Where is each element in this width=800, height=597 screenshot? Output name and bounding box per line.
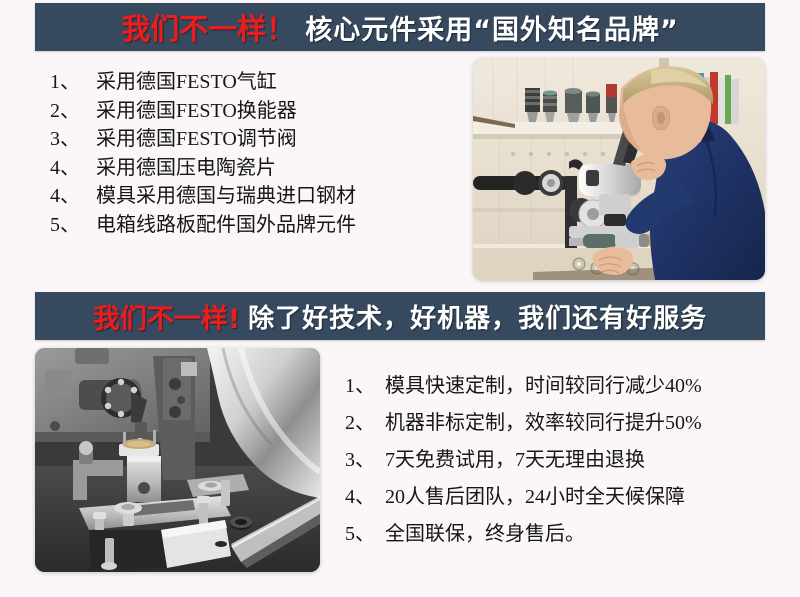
list-item: 2、 采用德国FESTO换能器 [50,97,356,126]
list-item-number: 3、 [50,125,96,154]
list-item: 4、 模具采用德国与瑞典进口钢材 [50,182,356,211]
components-banner: 我们不一样！ 核心元件采用“国外知名品牌” [35,3,765,51]
list-item-text: 采用德国FESTO气缸 [96,68,277,97]
list-item-text: 20人售后团队，24小时全天候保障 [385,479,685,516]
list-item-number: 3、 [345,442,385,479]
list-item-number: 4、 [50,182,96,211]
services-banner: 我们不一样! 除了好技术，好机器，我们还有好服务 [35,292,765,340]
list-item-number: 1、 [50,68,96,97]
list-item-text: 采用德国FESTO换能器 [96,97,297,126]
list-item-text: 采用德国FESTO调节阀 [96,125,297,154]
marketing-page: 我们不一样！ 核心元件采用“国外知名品牌” 1、 采用德国FESTO气缸 2、 … [0,0,800,597]
list-item: 1、 模具快速定制，时间较同行减少40% [345,368,702,405]
list-item-number: 5、 [50,211,96,240]
technician-microscope-illustration [473,58,765,280]
list-item-number: 1、 [345,368,385,405]
services-list: 1、 模具快速定制，时间较同行减少40% 2、 机器非标定制，效率较同行提升50… [345,368,702,553]
list-item-number: 4、 [50,154,96,183]
list-item: 2、 机器非标定制，效率较同行提升50% [345,405,702,442]
list-item-number: 4、 [345,479,385,516]
list-item-number: 2、 [50,97,96,126]
components-banner-title: 核心元件采用“国外知名品牌” [305,8,679,47]
list-item: 1、 采用德国FESTO气缸 [50,68,356,97]
machine-tooling-illustration [35,348,320,572]
list-item-text: 模具快速定制，时间较同行减少40% [385,368,702,405]
components-list: 1、 采用德国FESTO气缸 2、 采用德国FESTO换能器 3、 采用德国FE… [50,68,356,239]
list-item-number: 5、 [345,516,385,553]
list-item-text: 7天免费试用，7天无理由退换 [385,442,645,479]
services-banner-title: 除了好技术，好机器，我们还有好服务 [248,298,707,335]
list-item-text: 机器非标定制，效率较同行提升50% [385,405,702,442]
list-item-number: 2、 [345,405,385,442]
machine-tooling-photo [35,348,320,572]
list-item-text: 全国联保，终身售后。 [385,516,585,553]
list-item-text: 采用德国压电陶瓷片 [96,154,276,183]
list-item: 4、 采用德国压电陶瓷片 [50,154,356,183]
services-banner-highlight: 我们不一样! [93,297,240,336]
list-item: 3、 采用德国FESTO调节阀 [50,125,356,154]
components-banner-highlight: 我们不一样！ [121,6,295,48]
list-item: 5、 全国联保，终身售后。 [345,516,702,553]
list-item: 3、 7天免费试用，7天无理由退换 [345,442,702,479]
list-item-text: 电箱线路板配件国外品牌元件 [96,211,356,240]
list-item-text: 模具采用德国与瑞典进口钢材 [96,182,356,211]
list-item: 5、 电箱线路板配件国外品牌元件 [50,211,356,240]
list-item: 4、 20人售后团队，24小时全天候保障 [345,479,702,516]
technician-microscope-photo [473,58,765,280]
